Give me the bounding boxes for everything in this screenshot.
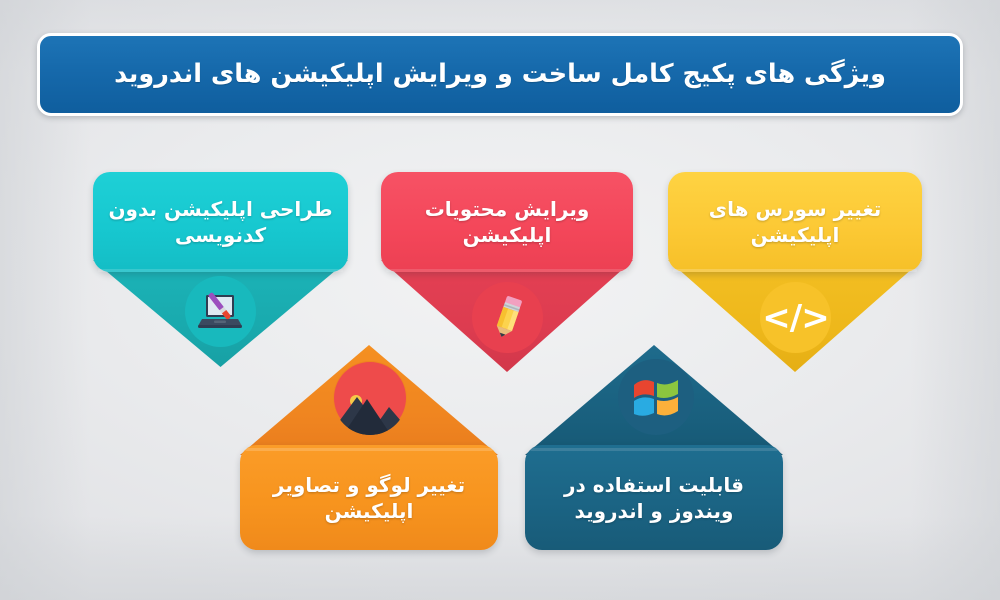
card-body: تغییر سورس های اپلیکیشن	[668, 172, 922, 272]
page-title: ویژگی های پکیج کامل ساخت و ویرایش اپلیکی…	[114, 58, 886, 92]
windows-logo-icon	[631, 373, 681, 421]
card-icon-disc	[618, 359, 694, 435]
mountain-photo-icon	[333, 361, 407, 435]
card-body: طراحی اپلیکیشن بدون کدنویسی	[93, 172, 348, 272]
card-icon-disc	[185, 276, 256, 347]
feature-card-windows-android-support[interactable]: قابلیت استفاده در ویندوز و اندروید	[525, 345, 783, 550]
card-icon-disc	[333, 361, 407, 435]
card-icon-disc	[472, 282, 543, 353]
card-label: تغییر سورس های اپلیکیشن	[682, 196, 908, 248]
card-label: قابلیت استفاده در ویندوز و اندروید	[539, 472, 769, 524]
card-label: تغییر لوگو و تصاویر اپلیکیشن	[254, 472, 484, 524]
laptop-paintbrush-icon	[198, 291, 244, 333]
feature-card-change-source[interactable]: تغییر سورس های اپلیکیشن </>	[668, 172, 922, 372]
card-label: ویرایش محتویات اپلیکیشن	[395, 196, 619, 248]
card-body: قابلیت استفاده در ویندوز و اندروید	[525, 445, 783, 550]
pencil-icon	[488, 295, 528, 341]
code-brackets-icon: </>	[762, 301, 828, 335]
card-label: طراحی اپلیکیشن بدون کدنویسی	[107, 196, 334, 248]
card-body: ویرایش محتویات اپلیکیشن	[381, 172, 633, 272]
card-body: تغییر لوگو و تصاویر اپلیکیشن	[240, 445, 498, 550]
feature-card-edit-content[interactable]: ویرایش محتویات اپلیکیشن	[381, 172, 633, 372]
card-icon-disc: </>	[760, 282, 831, 353]
header-banner: ویژگی های پکیج کامل ساخت و ویرایش اپلیکی…	[37, 33, 963, 116]
feature-card-design-no-code[interactable]: طراحی اپلیکیشن بدون کدنویسی	[93, 172, 348, 367]
feature-card-change-logo-images[interactable]: تغییر لوگو و تصاویر اپلیکیشن	[240, 345, 498, 550]
